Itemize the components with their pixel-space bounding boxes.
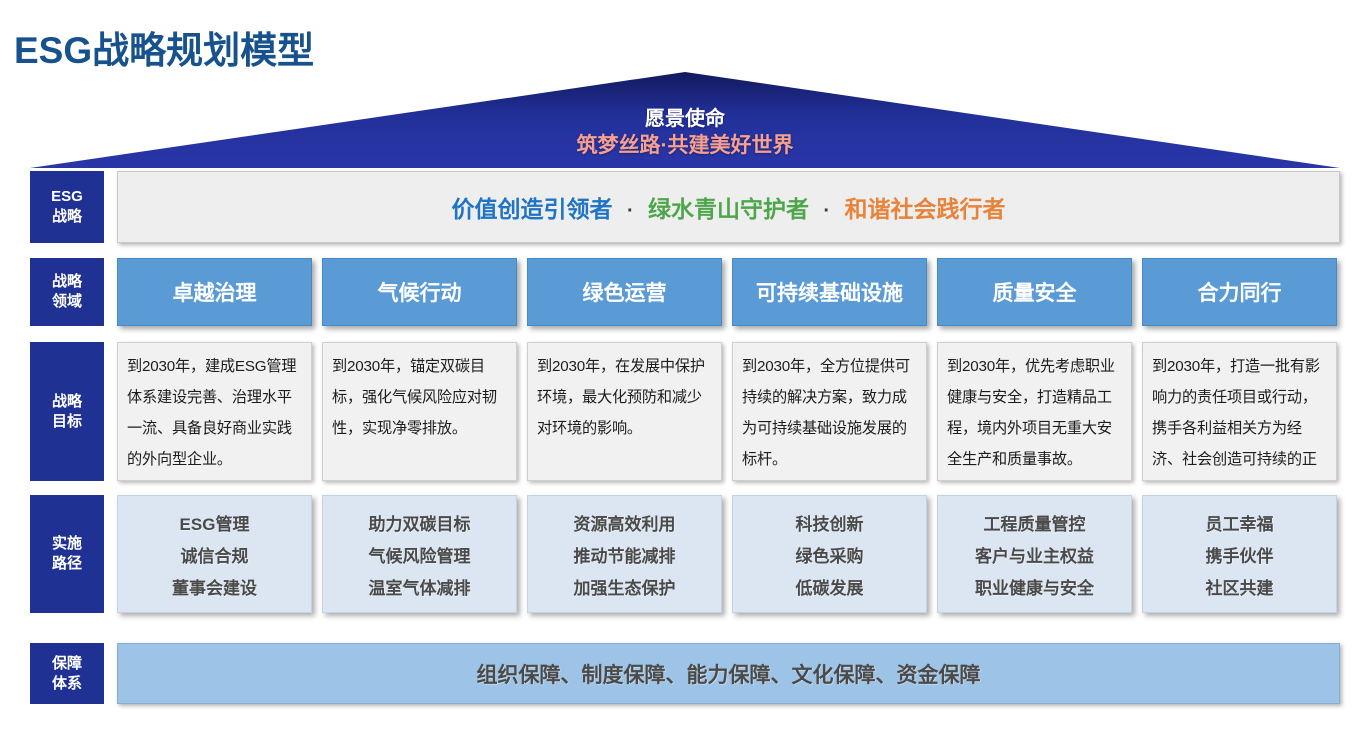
row-label-implementation-path-line2: 路径 [52,554,82,574]
esg-pillar-2: 绿水青山守护者 [648,196,809,222]
guarantee-system-band: 组织保障、制度保障、能力保障、文化保障、资金保障 [117,643,1340,704]
row-label-implementation-path: 实施 路径 [30,495,104,613]
guarantee-system-text: 组织保障、制度保障、能力保障、文化保障、资金保障 [477,659,981,689]
path-card-3-line-1: 资源高效利用 [574,510,676,535]
goal-card-5: 到2030年，优先考虑职业健康与安全，打造精品工程，境内外项目无重大安全生产和质… [937,342,1132,481]
row-label-strategy-domain-line1: 战略 [52,272,82,292]
path-card-2-line-1: 助力双碳目标 [369,510,471,535]
domain-card-6[interactable]: 合力同行 [1142,258,1337,326]
esg-strategy-band: 价值创造引领者 · 绿水青山守护者 · 和谐社会践行者 [117,171,1340,243]
path-card-6[interactable]: 员工幸福 携手伙伴 社区共建 [1142,495,1337,613]
path-card-5-line-3: 职业健康与安全 [975,574,1094,599]
domain-card-5-label: 质量安全 [993,277,1077,307]
domain-card-2[interactable]: 气候行动 [322,258,517,326]
path-card-3[interactable]: 资源高效利用 推动节能减排 加强生态保护 [527,495,722,613]
row-label-esg-strategy-line2: 战略 [52,207,82,227]
domain-card-4[interactable]: 可持续基础设施 [732,258,927,326]
row-label-strategy-goal: 战略 目标 [30,342,104,481]
row-label-implementation-path-line1: 实施 [52,534,82,554]
path-card-3-line-3: 加强生态保护 [574,574,676,599]
esg-pillar-3: 和谐社会践行者 [844,196,1005,222]
path-card-2-line-3: 温室气体减排 [369,574,471,599]
domain-card-3[interactable]: 绿色运营 [527,258,722,326]
domain-card-4-label: 可持续基础设施 [756,277,903,307]
path-card-1[interactable]: ESG管理 诚信合规 董事会建设 [117,495,312,613]
domain-card-2-label: 气候行动 [378,277,462,307]
path-card-6-line-2: 携手伙伴 [1206,542,1274,567]
row-label-guarantee-system-line1: 保障 [52,654,82,674]
path-card-3-line-2: 推动节能减排 [574,542,676,567]
path-card-5-line-1: 工程质量管控 [984,510,1086,535]
path-card-2[interactable]: 助力双碳目标 气候风险管理 温室气体减排 [322,495,517,613]
row-label-strategy-domain-line2: 领域 [52,292,82,312]
domain-card-1[interactable]: 卓越治理 [117,258,312,326]
goal-card-4: 到2030年，全方位提供可持续的解决方案，致力成为可持续基础设施发展的标杆。 [732,342,927,481]
esg-strategy-statement: 价值创造引领者 · 绿水青山守护者 · 和谐社会践行者 [452,190,1006,224]
path-card-6-line-1: 员工幸福 [1206,510,1274,535]
domain-card-5[interactable]: 质量安全 [937,258,1132,326]
esg-separator-2: · [815,200,838,222]
row-label-strategy-goal-line1: 战略 [52,392,82,412]
vision-slogan: 筑梦丝路·共建美好世界 [577,132,794,160]
row-label-strategy-goal-line2: 目标 [52,412,82,432]
path-card-1-line-3: 董事会建设 [172,574,257,599]
page-title: ESG战略规划模型 [14,20,314,74]
roof-text-block: 愿景使命 筑梦丝路·共建美好世界 [30,72,1340,168]
path-card-2-line-2: 气候风险管理 [369,542,471,567]
domain-card-6-label: 合力同行 [1198,277,1282,307]
goal-card-2: 到2030年，锚定双碳目标，强化气候风险应对韧性，实现净零排放。 [322,342,517,481]
vision-label: 愿景使命 [645,106,725,132]
esg-separator-1: · [619,200,642,222]
goal-card-6: 到2030年，打造一批有影响力的责任项目或行动，携手各利益相关方为经济、社会创造… [1142,342,1337,481]
path-card-5[interactable]: 工程质量管控 客户与业主权益 职业健康与安全 [937,495,1132,613]
esg-strategy-diagram: ESG战略规划模型 愿景使命 筑梦丝路·共建美好世界 ESG 战略 价值创造引领… [0,0,1365,736]
goal-card-3: 到2030年，在发展中保护环境，最大化预防和减少对环境的影响。 [527,342,722,481]
row-label-esg-strategy-line1: ESG [51,187,83,207]
path-card-6-line-3: 社区共建 [1206,574,1274,599]
goal-card-1: 到2030年，建成ESG管理体系建设完善、治理水平一流、具备良好商业实践的外向型… [117,342,312,481]
path-card-5-line-2: 客户与业主权益 [975,542,1094,567]
esg-pillar-1: 价值创造引领者 [452,196,613,222]
row-label-guarantee-system: 保障 体系 [30,643,104,704]
domain-card-1-label: 卓越治理 [173,277,257,307]
path-card-4-line-2: 绿色采购 [796,542,864,567]
path-card-4-line-1: 科技创新 [796,510,864,535]
row-label-strategy-domain: 战略 领域 [30,258,104,326]
path-card-4[interactable]: 科技创新 绿色采购 低碳发展 [732,495,927,613]
path-card-1-line-2: 诚信合规 [181,542,249,567]
domain-card-3-label: 绿色运营 [583,277,667,307]
row-label-guarantee-system-line2: 体系 [52,674,82,694]
path-card-4-line-3: 低碳发展 [796,574,864,599]
vision-roof: 愿景使命 筑梦丝路·共建美好世界 [30,72,1340,168]
path-card-1-line-1: ESG管理 [180,510,250,535]
row-label-esg-strategy: ESG 战略 [30,171,104,243]
